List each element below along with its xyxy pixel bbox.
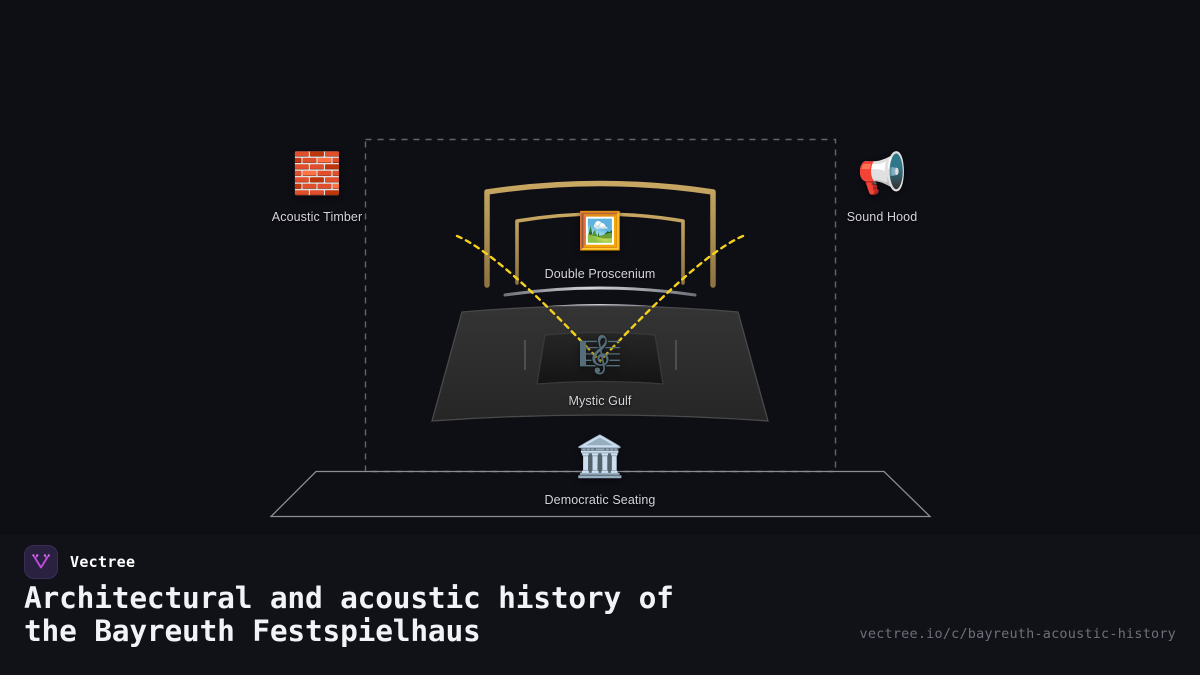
ceiling-reflector-arc-1 [505, 288, 695, 295]
brick-wall-icon: 🧱 [292, 154, 342, 194]
vectree-logo-glyph [30, 551, 52, 573]
vectree-logo-icon [24, 545, 58, 579]
node-label-mystic-gulf: Mystic Gulf [569, 395, 632, 408]
brand-lockup: Vectree [24, 545, 135, 579]
node-label-acoustic-timber: Acoustic Timber [272, 211, 362, 224]
framed-picture-icon: 🖼️ [578, 213, 623, 249]
festspielhaus-diagram: 🧱 Acoustic Timber 📢 Sound Hood 🖼️ Double… [0, 0, 1200, 540]
page-title: Architectural and acoustic history of th… [24, 582, 854, 648]
brand-name: Vectree [70, 553, 135, 571]
node-label-double-proscenium: Double Proscenium [545, 268, 656, 281]
node-label-sound-hood: Sound Hood [847, 211, 918, 224]
page-title-line-1: Architectural and acoustic history of [24, 582, 854, 615]
classical-building-icon: 🏛️ [575, 437, 625, 477]
node-label-democratic-seating: Democratic Seating [545, 494, 656, 507]
poster-canvas: 🧱 Acoustic Timber 📢 Sound Hood 🖼️ Double… [0, 0, 1200, 675]
loudspeaker-icon: 📢 [857, 154, 907, 194]
page-title-line-2: the Bayreuth Festspielhaus [24, 615, 854, 648]
musical-score-icon: 🎼 [578, 337, 623, 373]
poster-footer: Vectree Architectural and acoustic histo… [0, 535, 1200, 675]
source-url: vectree.io/c/bayreuth-acoustic-history [860, 626, 1176, 642]
